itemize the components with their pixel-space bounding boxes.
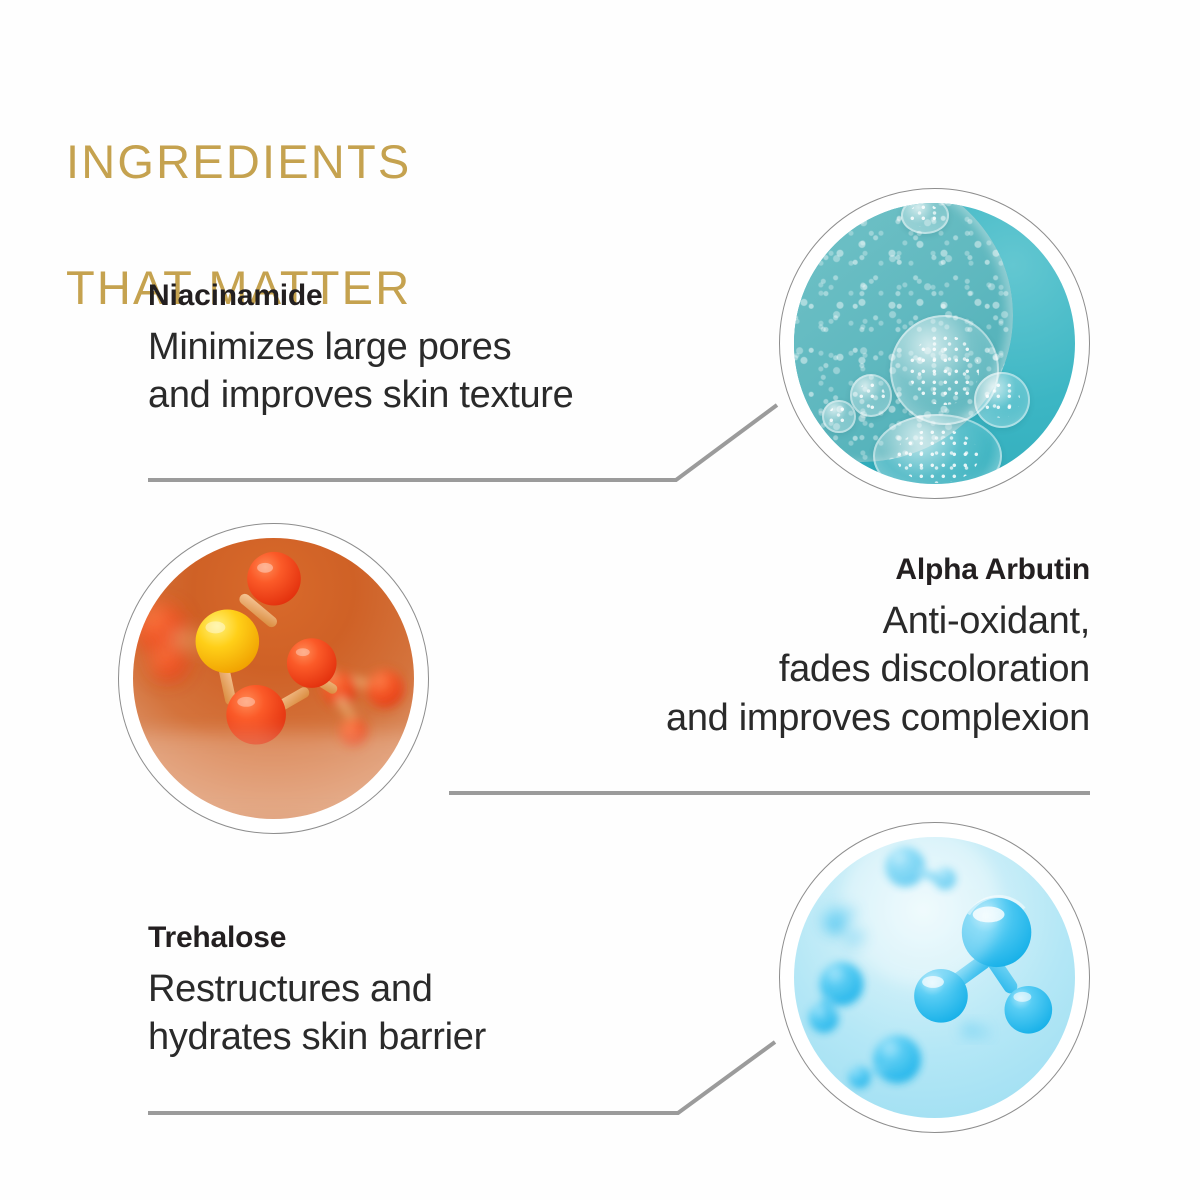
bubble (974, 372, 1030, 428)
page-title-line-1: INGREDIENTS (66, 131, 766, 194)
ingredient-description-niacinamide: Minimizes large pores and improves skin … (148, 323, 748, 420)
ingredient-name-alpha-arbutin: Alpha Arbutin (430, 552, 1090, 589)
ingredient-block-niacinamide: Niacinamide Minimizes large pores and im… (148, 278, 748, 420)
bubble (850, 374, 892, 416)
background-atoms (849, 1036, 921, 1089)
ingredient-name-niacinamide: Niacinamide (148, 278, 748, 315)
ingredient-image-niacinamide (779, 188, 1090, 499)
ingredient-description-trehalose: Restructures and hydrates skin barrier (148, 965, 748, 1062)
bubble-sparkles (858, 382, 885, 409)
ingredient-block-trehalose: Trehalose Restructures and hydrates skin… (148, 920, 748, 1062)
teal-oil-bubbles-macro-icon (794, 203, 1075, 484)
ingredients-infographic: INGREDIENTS THAT MATTER Niacinamide Mini… (0, 0, 1200, 1200)
background-atoms (962, 1023, 988, 1037)
ingredient-block-alpha-arbutin: Alpha Arbutin Anti-oxidant, fades discol… (430, 552, 1090, 742)
bubble-sparkles (984, 382, 1020, 418)
orange-molecule-render-icon (133, 538, 414, 819)
background-atoms (809, 962, 864, 1032)
bubble-sparkles (828, 406, 850, 428)
bubble-sparkles (909, 204, 940, 227)
bubble (822, 400, 856, 434)
ingredient-name-trehalose: Trehalose (148, 920, 748, 957)
blue-molecule-render-icon (794, 837, 1075, 1118)
bubble-sparkles (909, 335, 979, 405)
ingredient-description-alpha-arbutin: Anti-oxidant, fades discoloration and im… (430, 597, 1090, 743)
ingredient-image-trehalose (779, 822, 1090, 1133)
molecule-atoms (196, 552, 337, 745)
ingredient-image-alpha-arbutin (118, 523, 429, 834)
bubble-sparkles (896, 429, 979, 483)
